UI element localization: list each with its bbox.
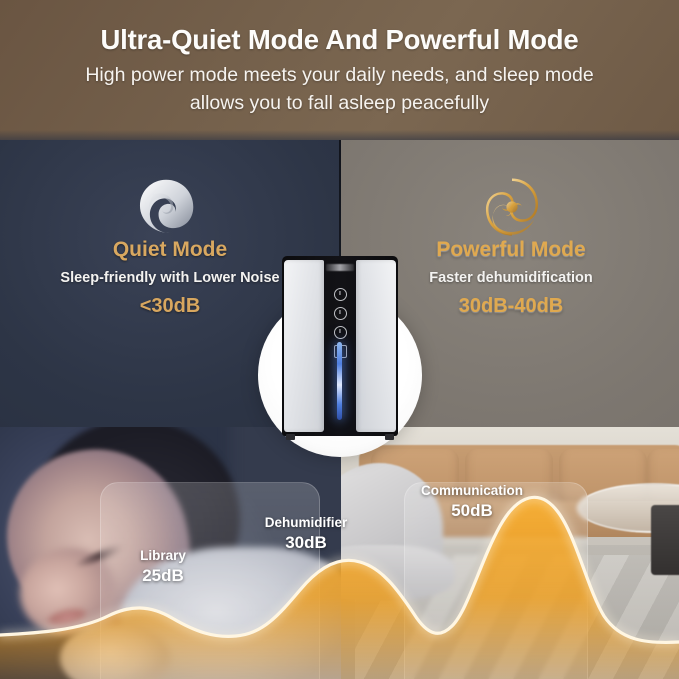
powerful-swirl-icon <box>481 176 543 238</box>
noise-label-communication: Communication 50dB <box>404 483 540 521</box>
header-banner: Ultra-Quiet Mode And Powerful Mode High … <box>0 0 679 140</box>
timer-icon[interactable] <box>334 326 347 339</box>
noise-label-name: Dehumidifier <box>240 515 372 532</box>
dehumidifier-unit <box>282 256 398 442</box>
quiet-swirl-icon <box>135 176 197 238</box>
noise-label-value: 30dB <box>240 532 372 553</box>
power-icon[interactable] <box>334 288 347 301</box>
noise-label-dehumidifier: Dehumidifier 30dB <box>240 515 372 553</box>
infographic-root: Ultra-Quiet Mode And Powerful Mode High … <box>0 0 679 679</box>
unit-side-panel-left <box>284 260 324 432</box>
noise-label-library: Library 25dB <box>118 548 208 586</box>
noise-level-waveform-chart <box>0 430 679 679</box>
unit-foot <box>286 434 295 440</box>
fan-icon[interactable] <box>334 307 347 320</box>
noise-label-name: Communication <box>404 483 540 500</box>
unit-foot <box>385 434 394 440</box>
page-subtitle: High power mode meets your daily needs, … <box>60 62 619 117</box>
page-title: Ultra-Quiet Mode And Powerful Mode <box>0 24 679 56</box>
led-indicator-strip <box>337 342 342 420</box>
brand-logo <box>326 264 354 271</box>
unit-side-panel-right <box>356 260 396 432</box>
noise-label-name: Library <box>118 548 208 565</box>
noise-label-value: 50dB <box>404 500 540 521</box>
noise-label-value: 25dB <box>118 565 208 586</box>
